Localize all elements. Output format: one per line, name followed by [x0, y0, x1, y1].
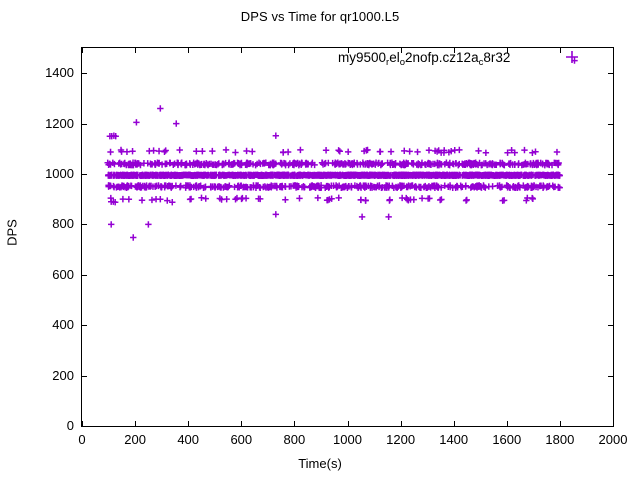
scatter-point	[555, 184, 561, 190]
scatter-point	[239, 195, 245, 201]
scatter-point	[458, 184, 464, 190]
scatter-point	[385, 214, 391, 220]
scatter-point	[161, 149, 167, 155]
scatter-point	[173, 120, 179, 126]
scatter-point	[456, 147, 462, 153]
y-tick-mark-right	[608, 124, 614, 125]
x-tick-mark-top	[294, 47, 295, 53]
y-tick-mark	[81, 376, 87, 377]
scatter-point	[203, 195, 209, 201]
scatter-point	[198, 195, 204, 201]
x-axis-label: Time(s)	[0, 456, 640, 471]
y-tick-mark	[81, 174, 87, 175]
x-tick-label: 200	[105, 433, 165, 446]
x-tick-mark-top	[135, 47, 136, 53]
scatter-point	[209, 148, 215, 154]
scatter-point	[187, 196, 193, 202]
y-tick-label: 200	[8, 369, 74, 382]
scatter-point	[145, 221, 151, 227]
x-tick-label: 400	[158, 433, 218, 446]
x-tick-mark-top	[613, 47, 614, 53]
y-tick-mark-right	[608, 174, 614, 175]
x-tick-mark	[560, 421, 561, 427]
x-tick-label: 0	[52, 433, 112, 446]
x-tick-mark-top	[82, 47, 83, 53]
x-tick-label: 1800	[530, 433, 590, 446]
y-tick-label: 1400	[8, 66, 74, 79]
scatter-point	[499, 197, 505, 203]
scatter-point	[280, 149, 286, 155]
y-tick-label: 600	[8, 268, 74, 281]
scatter-point	[193, 148, 199, 154]
x-tick-mark	[188, 421, 189, 427]
scatter-point	[406, 148, 412, 154]
scatter-point	[345, 149, 351, 155]
scatter-point	[130, 234, 136, 240]
scatter-point	[483, 150, 489, 156]
scatter-point	[438, 196, 444, 202]
scatter-point	[464, 197, 470, 203]
scatter-point	[521, 147, 527, 153]
y-tick-mark-right	[608, 275, 614, 276]
y-tick-mark	[81, 124, 87, 125]
x-tick-mark	[401, 421, 402, 427]
y-tick-mark	[81, 73, 87, 74]
x-tick-label: 800	[264, 433, 324, 446]
x-tick-mark	[348, 421, 349, 427]
x-tick-mark-top	[560, 47, 561, 53]
scatter-point	[176, 147, 182, 153]
scatter-point	[425, 195, 431, 201]
scatter-point	[249, 148, 255, 154]
y-tick-mark	[81, 224, 87, 225]
x-tick-label: 1400	[424, 433, 484, 446]
scatter-point	[475, 148, 481, 154]
x-tick-mark	[613, 421, 614, 427]
scatter-point	[359, 214, 365, 220]
scatter-points-layer	[82, 48, 613, 426]
scatter-point	[387, 197, 393, 203]
scatter-point	[232, 196, 238, 202]
scatter-point	[486, 183, 492, 189]
x-tick-label: 1600	[477, 433, 537, 446]
scatter-point	[335, 147, 341, 153]
scatter-point	[199, 148, 205, 154]
y-tick-mark-right	[608, 224, 614, 225]
x-tick-mark-top	[188, 47, 189, 53]
y-tick-label: 400	[8, 318, 74, 331]
chart-title: DPS vs Time for qr1000.L5	[0, 9, 640, 24]
x-tick-label: 1000	[318, 433, 378, 446]
plot-frame	[81, 47, 614, 427]
scatter-point	[129, 148, 135, 154]
scatter-point	[426, 147, 432, 153]
scatter-point	[126, 196, 132, 202]
scatter-point	[153, 196, 159, 202]
scatter-point	[377, 148, 383, 154]
scatter-point	[107, 149, 113, 155]
y-axis-label: DPS	[5, 203, 20, 263]
y-tick-mark-right	[608, 325, 614, 326]
x-tick-label: 1200	[371, 433, 431, 446]
scatter-point	[399, 195, 405, 201]
scatter-point	[315, 195, 321, 201]
x-tick-label: 2000	[583, 433, 640, 446]
scatter-point	[273, 132, 279, 138]
x-tick-label: 600	[211, 433, 271, 446]
x-tick-mark	[241, 421, 242, 427]
y-tick-mark-right	[608, 376, 614, 377]
scatter-point	[282, 197, 288, 203]
legend-series-label: my9500relo2nofp.cz12ac8r32	[338, 51, 510, 67]
scatter-point	[124, 149, 130, 155]
scatter-point	[243, 148, 249, 154]
y-tick-mark	[81, 325, 87, 326]
scatter-point	[296, 195, 302, 201]
x-tick-mark	[135, 421, 136, 427]
x-tick-mark	[454, 421, 455, 427]
y-tick-label: 1000	[8, 167, 74, 180]
x-tick-mark	[294, 421, 295, 427]
scatter-point	[273, 211, 279, 217]
scatter-point	[323, 147, 329, 153]
scatter-point	[337, 148, 343, 154]
x-tick-mark	[82, 421, 83, 427]
scatter-point	[149, 197, 155, 203]
scatter-point	[554, 149, 560, 155]
scatter-point	[108, 221, 114, 227]
scatter-point	[223, 147, 229, 153]
scatter-point	[388, 148, 394, 154]
scatter-point	[156, 148, 162, 154]
y-tick-mark	[81, 275, 87, 276]
y-tick-mark-right	[608, 73, 614, 74]
scatter-point	[529, 150, 535, 156]
scatter-point	[358, 197, 364, 203]
scatter-point	[157, 105, 163, 111]
scatter-point	[419, 195, 425, 201]
scatter-point	[297, 147, 303, 153]
y-tick-label: 0	[8, 419, 74, 432]
plot-area	[82, 48, 613, 426]
x-tick-mark	[507, 421, 508, 427]
scatter-point	[532, 149, 538, 155]
scatter-point	[162, 147, 168, 153]
scatter-point	[162, 160, 168, 166]
legend-marker-icon	[565, 50, 579, 64]
x-tick-mark-top	[241, 47, 242, 53]
y-tick-label: 1200	[8, 117, 74, 130]
scatter-point	[139, 197, 145, 203]
scatter-point	[120, 196, 126, 202]
scatter-point	[223, 196, 229, 202]
scatter-point	[150, 147, 156, 153]
scatter-point	[232, 149, 238, 155]
chart-root: DPS vs Time for qr1000.L5 02004006008001…	[0, 0, 640, 480]
legend: my9500relo2nofp.cz12ac8r32	[338, 48, 510, 70]
scatter-point	[414, 149, 420, 155]
scatter-point	[336, 195, 342, 201]
scatter-point	[133, 119, 139, 125]
